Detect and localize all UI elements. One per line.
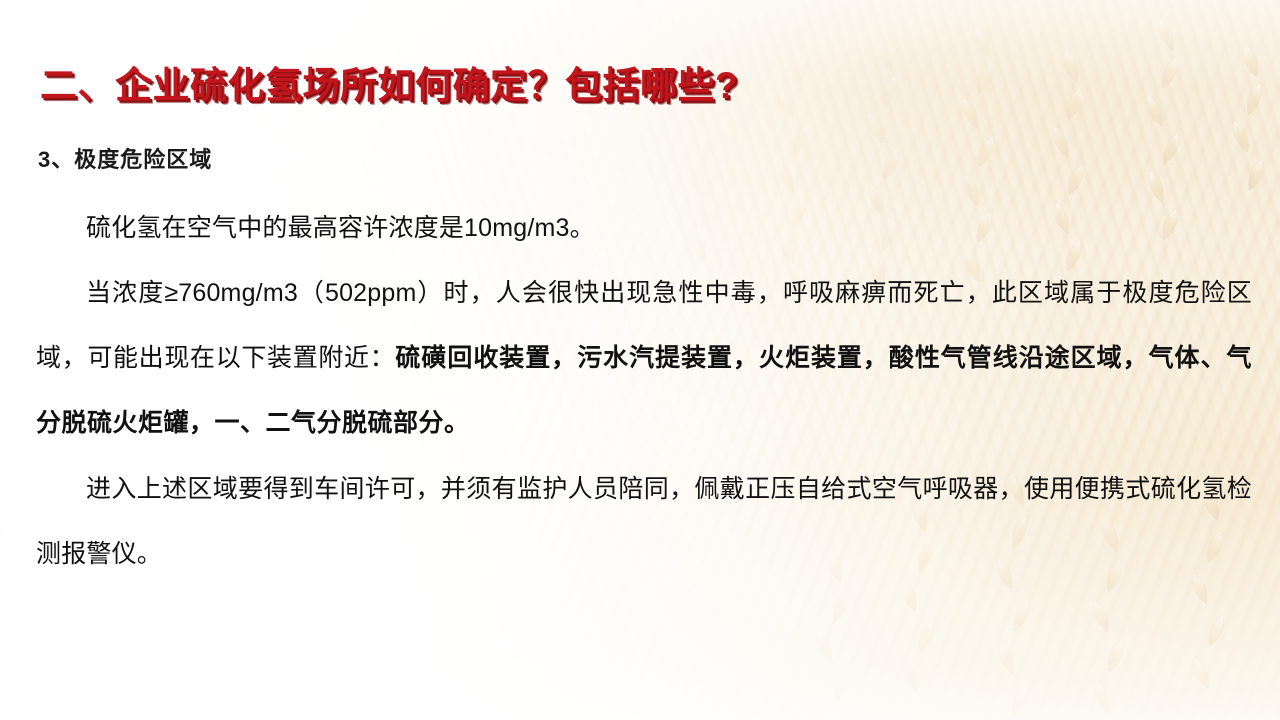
paragraph-concentration-limit: 硫化氢在空气中的最高容许浓度是10mg/m3。 <box>36 196 595 261</box>
slide-canvas: 二、企业硫化氢场所如何确定？包括哪些? 3、极度危险区域 硫化氢在空气中的最高容… <box>0 0 1280 720</box>
paragraph-extreme-danger: 当浓度≥760mg/m3（502ppm）时，人会很快出现急性中毒，呼吸麻痹而死亡… <box>36 261 1252 456</box>
section-heading: 3、极度危险区域 <box>38 142 212 174</box>
page-title: 二、企业硫化氢场所如何确定？包括哪些? <box>40 55 738 109</box>
paragraph-entry-requirements: 进入上述区域要得到车间许可，并须有监护人员陪同，佩戴正压自给式空气呼吸器，使用便… <box>36 457 1252 587</box>
